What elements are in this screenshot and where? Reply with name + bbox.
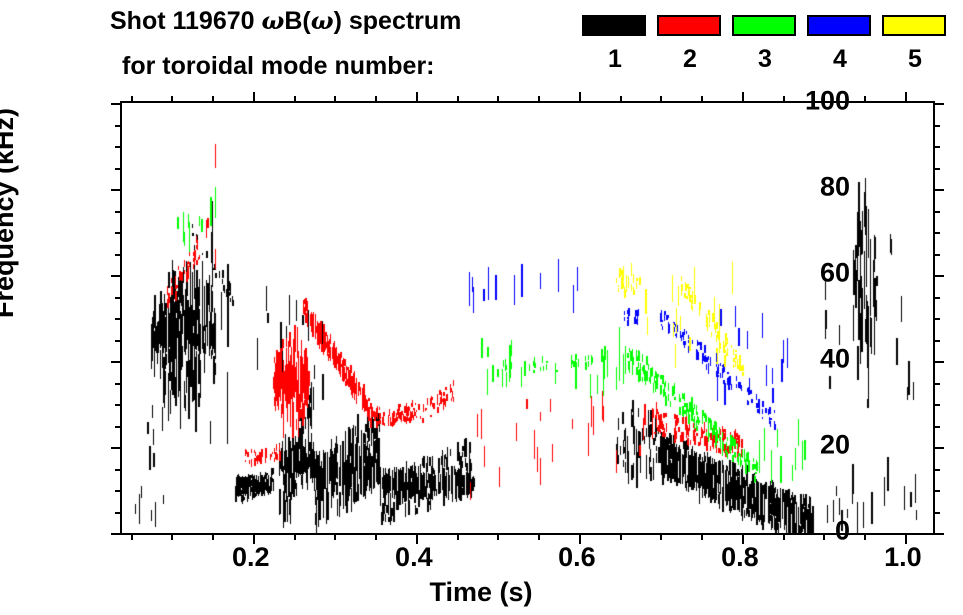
x-tick-major-top-0.2 [253, 92, 255, 103]
x-tick-minor-top-0.15 [212, 96, 214, 103]
y-tick-major-right-80 [933, 189, 944, 191]
y-tick-major-100 [111, 103, 122, 105]
y-tick-minor-5 [115, 512, 122, 514]
y-tick-minor-right-5 [933, 512, 940, 514]
y-tick-minor-50 [115, 318, 122, 320]
y-tick-minor-right-65 [933, 254, 940, 256]
y-tick-minor-right-75 [933, 211, 940, 213]
legend-item-n1[interactable]: 1 [582, 15, 648, 36]
y-tick-label-20: 20 [730, 430, 850, 461]
x-tick-minor-top-0.55 [538, 96, 540, 103]
x-tick-minor-0.70 [660, 533, 662, 540]
x-tick-major-top-1 [905, 92, 907, 103]
legend-swatch-n4 [807, 15, 871, 36]
x-tick-minor-0.05 [131, 533, 133, 540]
x-tick-minor-0.55 [538, 533, 540, 540]
legend-label-n1: 1 [582, 45, 648, 74]
legend-label-n5: 5 [882, 45, 948, 74]
x-tick-label-0.4: 0.4 [354, 542, 474, 573]
x-tick-minor-0.50 [497, 533, 499, 540]
legend-label-n2: 2 [657, 45, 723, 74]
y-tick-major-right-60 [933, 275, 944, 277]
y-tick-minor-15 [115, 469, 122, 471]
x-tick-minor-top-0.05 [131, 96, 133, 103]
legend-item-n3[interactable]: 3 [732, 15, 798, 36]
y-tick-major-80 [111, 189, 122, 191]
x-tick-minor-0.65 [620, 533, 622, 540]
legend-item-n2[interactable]: 2 [657, 15, 723, 36]
y-tick-minor-35 [115, 383, 122, 385]
x-tick-label-1: 1.0 [843, 542, 963, 573]
legend-label-n4: 4 [807, 45, 873, 74]
legend-label-n3: 3 [732, 45, 798, 74]
y-tick-minor-65 [115, 254, 122, 256]
x-tick-minor-top-0.75 [701, 96, 703, 103]
y-tick-major-right-20 [933, 447, 944, 449]
x-tick-minor-top-0.45 [457, 96, 459, 103]
legend: 12345 [582, 15, 942, 95]
x-tick-major-top-0.6 [579, 92, 581, 103]
figure-title-line1: Shot 119670 ωB(ω) spectrum [110, 6, 461, 36]
y-tick-minor-25 [115, 426, 122, 428]
y-tick-minor-right-50 [933, 318, 940, 320]
y-tick-major-right-100 [933, 103, 944, 105]
y-tick-minor-right-55 [933, 297, 940, 299]
y-tick-minor-95 [115, 125, 122, 127]
y-tick-major-20 [111, 447, 122, 449]
x-tick-minor-0.25 [294, 533, 296, 540]
y-tick-label-60: 60 [730, 258, 850, 289]
title-spectrum-text: ) spectrum [334, 7, 462, 35]
y-tick-major-40 [111, 361, 122, 363]
x-tick-minor-top-0.30 [334, 96, 336, 103]
x-tick-minor-top-0.25 [294, 96, 296, 103]
spectrogram-figure: Shot 119670 ωB(ω) spectrum for toroidal … [0, 0, 963, 615]
y-tick-minor-45 [115, 340, 122, 342]
x-tick-major-top-0.4 [416, 92, 418, 103]
y-tick-label-80: 80 [730, 172, 850, 203]
y-tick-major-right-0 [933, 533, 944, 535]
x-tick-minor-0.45 [457, 533, 459, 540]
x-tick-minor-top-0.65 [620, 96, 622, 103]
x-tick-minor-0.35 [375, 533, 377, 540]
y-tick-major-0 [111, 533, 122, 535]
y-tick-minor-right-35 [933, 383, 940, 385]
y-tick-minor-right-45 [933, 340, 940, 342]
legend-item-n5[interactable]: 5 [882, 15, 948, 36]
x-tick-minor-top-0.50 [497, 96, 499, 103]
x-tick-label-0.2: 0.2 [191, 542, 311, 573]
legend-swatch-n3 [732, 15, 796, 36]
y-tick-minor-85 [115, 168, 122, 170]
x-axis-title: Time (s) [429, 577, 532, 608]
x-tick-minor-0.75 [701, 533, 703, 540]
y-tick-label-40: 40 [730, 344, 850, 375]
omega-symbol-1: ω [261, 6, 284, 35]
y-tick-minor-75 [115, 211, 122, 213]
x-tick-minor-top-0.70 [660, 96, 662, 103]
legend-item-n4[interactable]: 4 [807, 15, 873, 36]
y-tick-major-right-40 [933, 361, 944, 363]
plot-frame [120, 101, 935, 535]
y-tick-minor-30 [115, 404, 122, 406]
title-shot-text: Shot 119670 [110, 7, 261, 35]
legend-swatch-n2 [657, 15, 721, 36]
y-tick-minor-10 [115, 490, 122, 492]
x-tick-minor-0.15 [212, 533, 214, 540]
figure-title-line2: for toroidal mode number: [122, 52, 435, 81]
y-tick-major-60 [111, 275, 122, 277]
x-tick-minor-0.95 [864, 533, 866, 540]
omega-symbol-2: ω [311, 6, 334, 35]
x-tick-minor-top-0.10 [171, 96, 173, 103]
spectrogram-canvas [122, 103, 933, 533]
y-tick-minor-55 [115, 297, 122, 299]
legend-swatch-n1 [582, 15, 646, 36]
title-b-text: B( [284, 7, 310, 35]
y-tick-minor-70 [115, 232, 122, 234]
legend-swatch-n5 [882, 15, 946, 36]
x-tick-label-0.6: 0.6 [517, 542, 637, 573]
y-tick-minor-90 [115, 146, 122, 148]
y-tick-minor-right-85 [933, 168, 940, 170]
x-tick-minor-top-0.35 [375, 96, 377, 103]
y-tick-minor-right-95 [933, 125, 940, 127]
x-tick-label-0.8: 0.8 [680, 542, 800, 573]
x-tick-minor-top-0.95 [864, 96, 866, 103]
x-tick-minor-0.10 [171, 533, 173, 540]
y-tick-minor-right-10 [933, 490, 940, 492]
y-tick-minor-right-15 [933, 469, 940, 471]
y-tick-label-100: 100 [730, 86, 850, 117]
y-tick-minor-right-30 [933, 404, 940, 406]
x-tick-minor-0.30 [334, 533, 336, 540]
y-axis-title: Frequency (kHz) [0, 108, 20, 318]
y-tick-minor-right-70 [933, 232, 940, 234]
y-tick-minor-right-25 [933, 426, 940, 428]
y-tick-minor-right-90 [933, 146, 940, 148]
